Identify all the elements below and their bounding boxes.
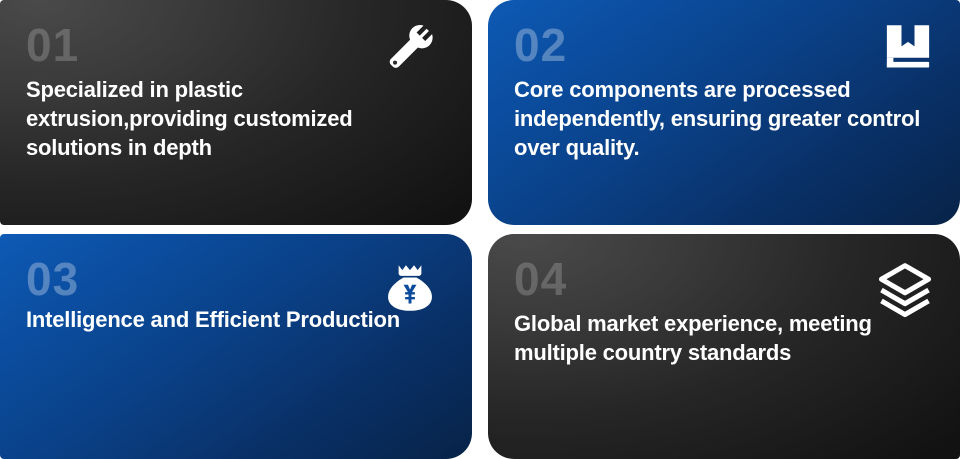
feature-card-02[interactable]: 02 Core components are processed indepen… xyxy=(488,0,960,225)
money-bag-yen-icon xyxy=(384,260,436,316)
layers-stack-icon xyxy=(876,262,934,320)
card-text: Global market experience, meeting multip… xyxy=(514,310,904,368)
feature-card-03[interactable]: 03 Intelligence and Efficient Production xyxy=(0,234,472,459)
feature-card-grid: 01 Specialized in plastic extrusion,prov… xyxy=(0,0,960,459)
card-text: Intelligence and Efficient Production xyxy=(26,306,426,335)
feature-card-04[interactable]: 04 Global market experience, meeting mul… xyxy=(488,234,960,459)
feature-card-01[interactable]: 01 Specialized in plastic extrusion,prov… xyxy=(0,0,472,225)
card-number: 03 xyxy=(26,256,446,302)
card-text: Specialized in plastic extrusion,providi… xyxy=(26,76,446,162)
card-text: Core components are processed independen… xyxy=(514,76,934,162)
wrench-icon xyxy=(380,24,436,74)
card-number: 02 xyxy=(514,22,934,68)
book-bookmark-icon xyxy=(882,22,934,74)
card-number: 04 xyxy=(514,256,934,302)
